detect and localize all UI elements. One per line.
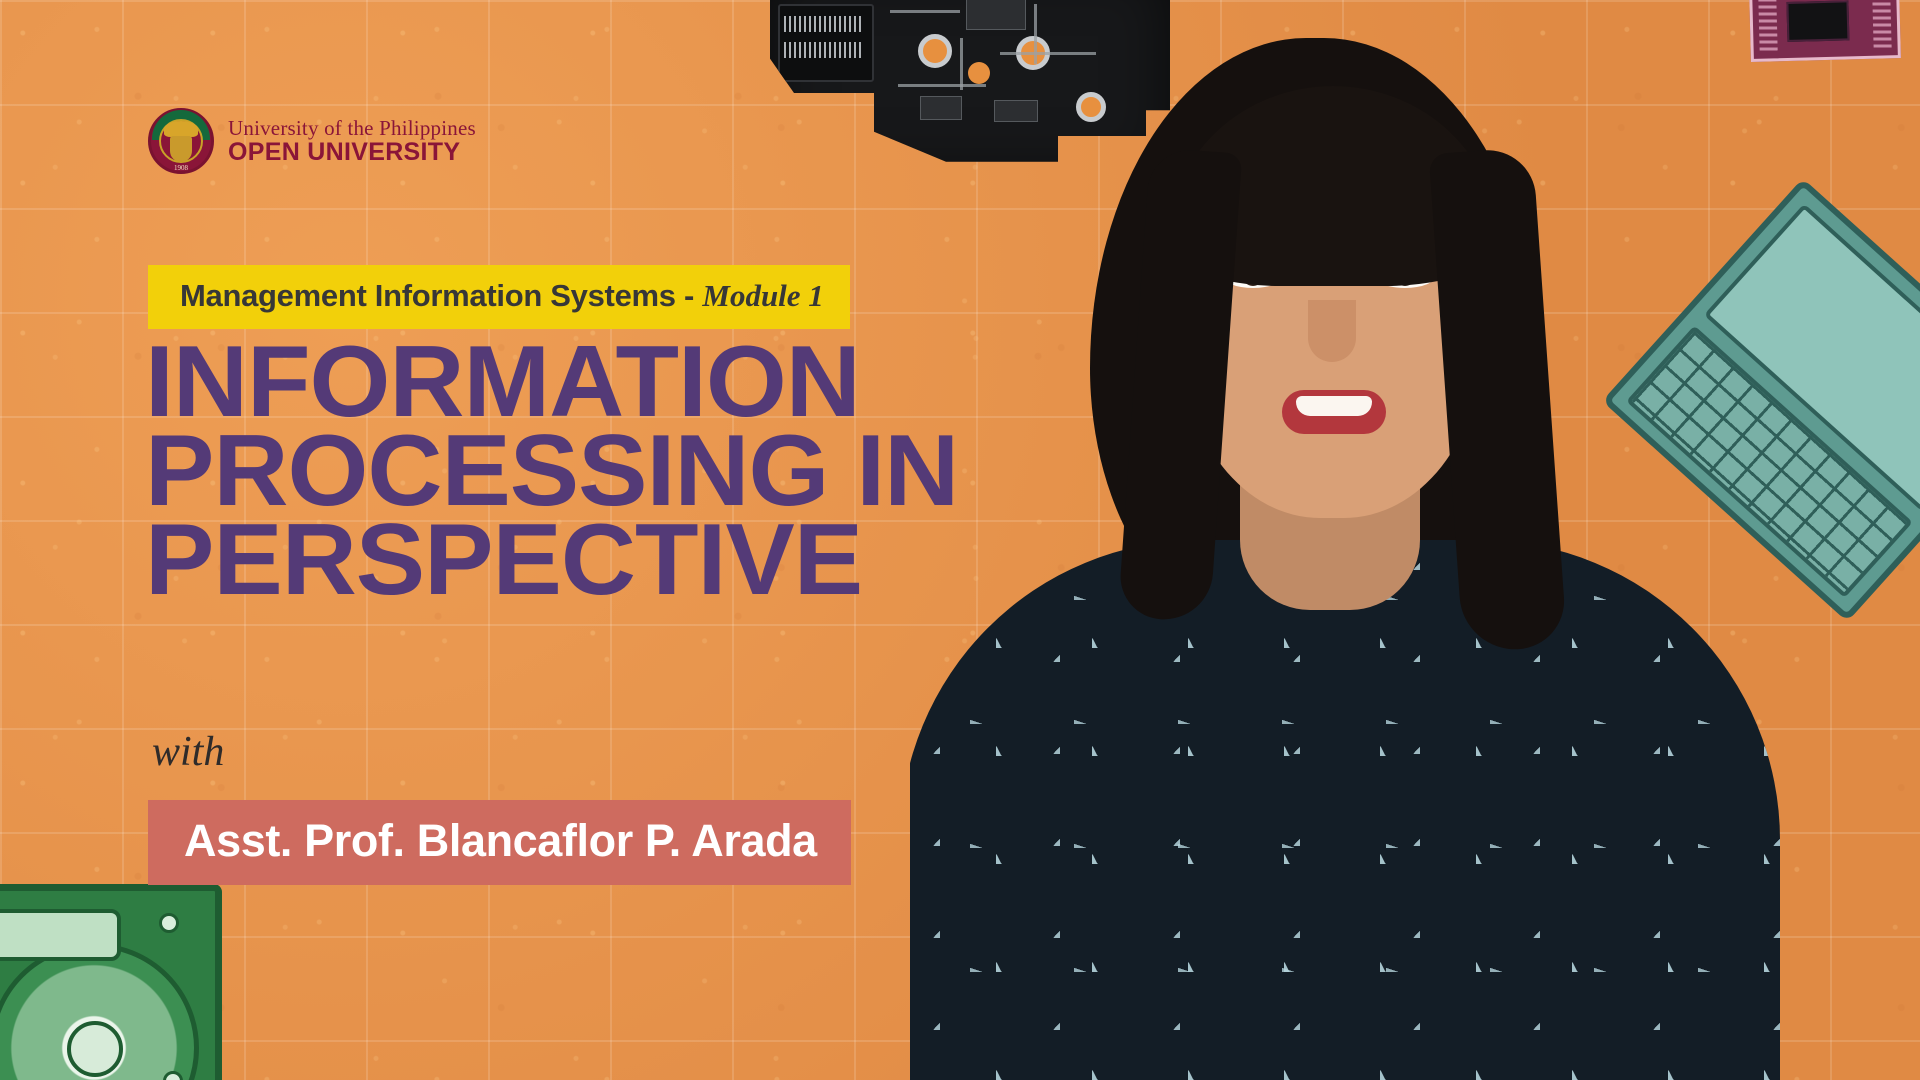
up-seal-icon: 1908 xyxy=(148,108,214,174)
portrait-nose xyxy=(1308,300,1356,362)
upou-logo: 1908 University of the Philippines OPEN … xyxy=(148,108,476,174)
presenter-name-bar: Asst. Prof. Blancaflor P. Arada xyxy=(148,800,851,885)
university-name: University of the Philippines xyxy=(228,117,476,139)
title-line-1: INFORMATION xyxy=(145,338,1072,427)
seal-shield xyxy=(170,136,192,162)
seal-year: 1908 xyxy=(148,164,214,172)
upou-logo-text: University of the Philippines OPEN UNIVE… xyxy=(228,117,476,165)
open-university-name: OPEN UNIVERSITY xyxy=(228,139,476,165)
page-title: INFORMATION PROCESSING IN PERSPECTIVE xyxy=(145,338,1072,605)
module-banner: Management Information Systems - Module … xyxy=(148,265,850,329)
portrait-teeth xyxy=(1296,396,1372,416)
title-line-3: PERSPECTIVE xyxy=(145,516,1072,605)
course-name: Management Information Systems - xyxy=(180,278,702,313)
seal-eagle xyxy=(164,121,198,137)
title-card-content: 1908 University of the Philippines OPEN … xyxy=(0,0,1060,1080)
presenter-name: Asst. Prof. Blancaflor P. Arada xyxy=(184,815,817,866)
title-line-2: PROCESSING IN xyxy=(145,427,1072,516)
with-label: with xyxy=(152,728,224,776)
module-number: Module 1 xyxy=(702,278,823,313)
